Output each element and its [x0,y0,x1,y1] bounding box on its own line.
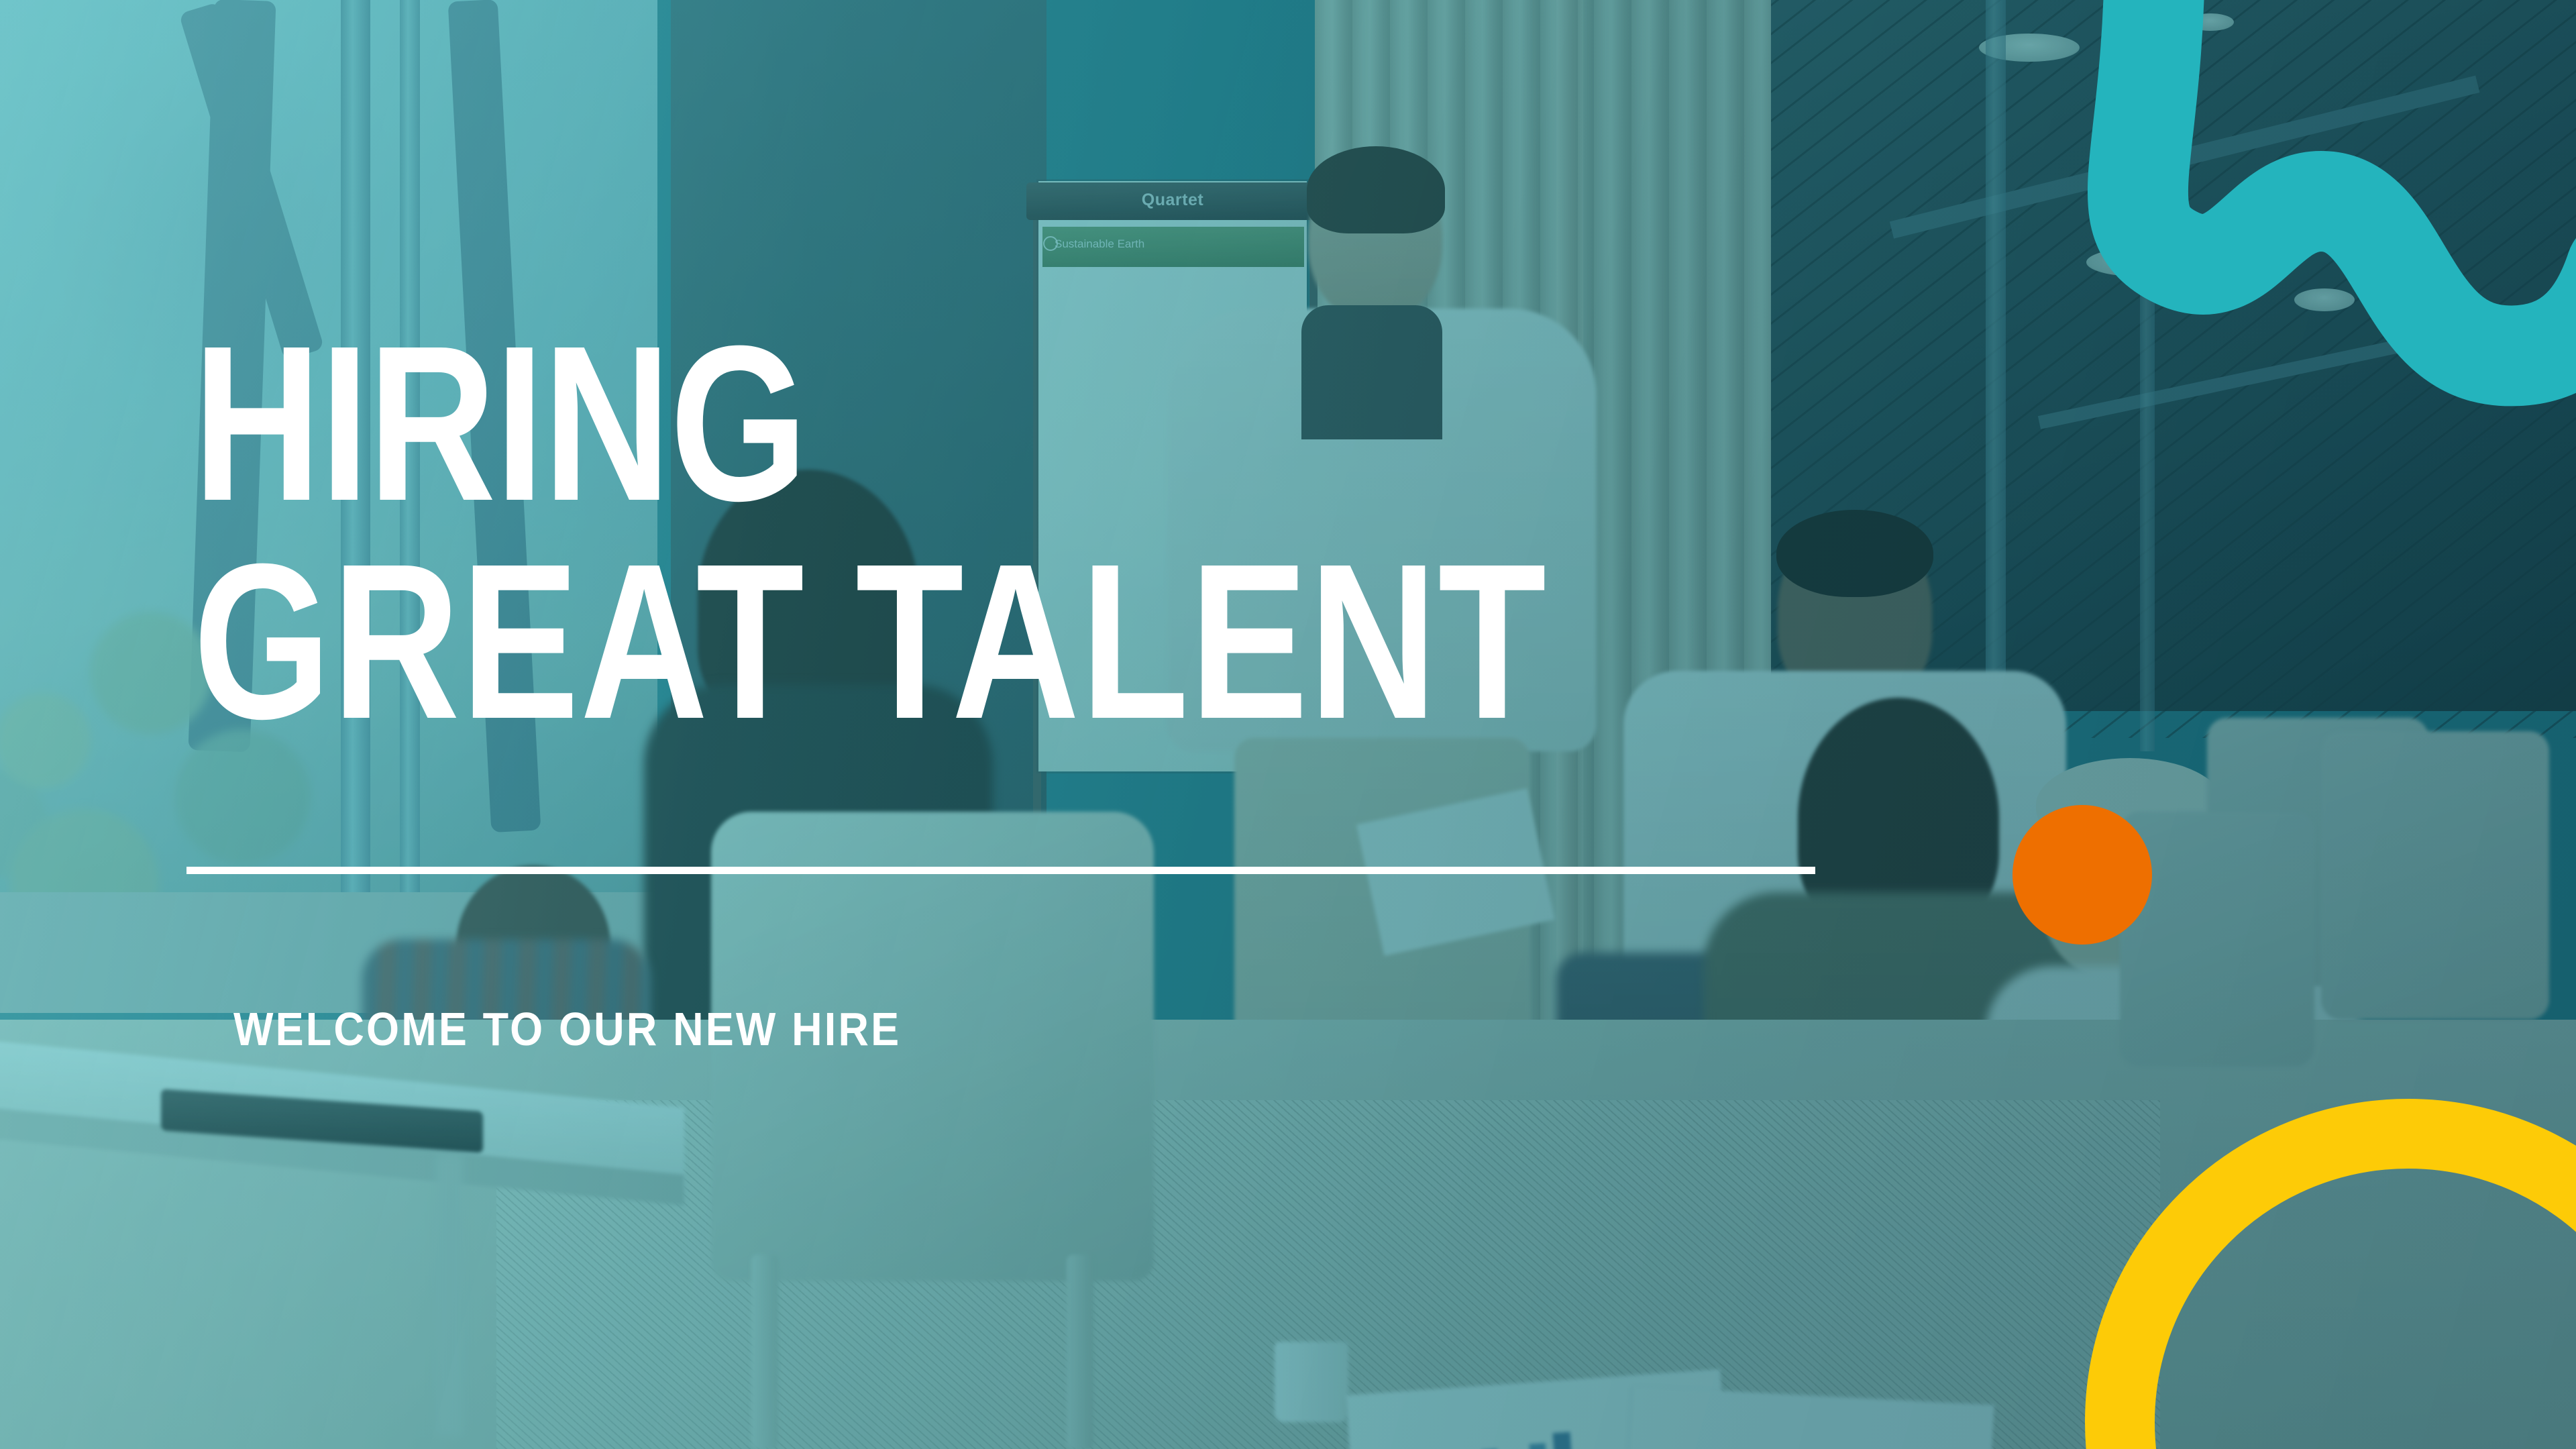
teal-swoosh-decoration [1972,0,2576,429]
headline-line-1: HIRING [193,314,1548,532]
headline-line-2: GREAT TALENT [193,532,1548,750]
subtitle: WELCOME TO OUR NEW HIRE [233,1002,901,1056]
yellow-ring-decoration [2019,1033,2576,1449]
hiring-poster: Quartet Sustainable Earth [0,0,2576,1449]
page-title: HIRING GREAT TALENT [193,314,1548,750]
orange-circle-decoration [2012,805,2152,945]
horizontal-rule-divider [186,867,1815,874]
